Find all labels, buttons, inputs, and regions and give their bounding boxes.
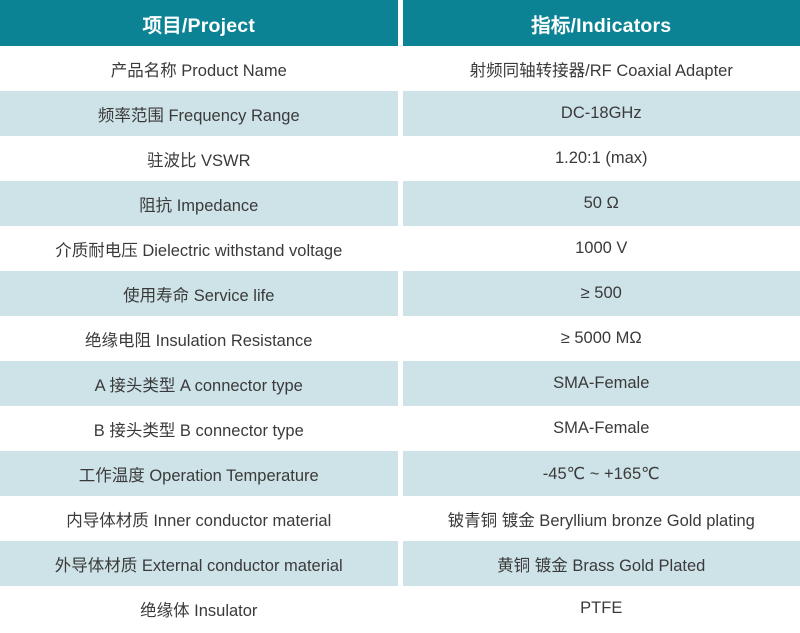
column-header-project: 项目/Project — [0, 0, 400, 46]
table-row: B 接头类型 B connector typeSMA-Female — [0, 406, 800, 451]
cell-project: 产品名称 Product Name — [0, 46, 400, 91]
table-header-row: 项目/Project 指标/Indicators — [0, 0, 800, 46]
column-header-indicators: 指标/Indicators — [400, 0, 800, 46]
table-row: 介质耐电压 Dielectric withstand voltage1000 V — [0, 226, 800, 271]
cell-indicator: -45℃ ~ +165℃ — [400, 451, 800, 496]
cell-project: 阻抗 Impedance — [0, 181, 400, 226]
cell-project: 内导体材质 Inner conductor material — [0, 496, 400, 541]
cell-project: B 接头类型 B connector type — [0, 406, 400, 451]
table-row: 工作温度 Operation Temperature-45℃ ~ +165℃ — [0, 451, 800, 496]
cell-project: A 接头类型 A connector type — [0, 361, 400, 406]
cell-indicator: DC-18GHz — [400, 91, 800, 136]
table-row: 阻抗 Impedance50 Ω — [0, 181, 800, 226]
cell-project: 使用寿命 Service life — [0, 271, 400, 316]
table-row: 绝缘体 InsulatorPTFE — [0, 586, 800, 631]
cell-indicator: 50 Ω — [400, 181, 800, 226]
cell-project: 绝缘体 Insulator — [0, 586, 400, 631]
cell-project: 工作温度 Operation Temperature — [0, 451, 400, 496]
cell-indicator: PTFE — [400, 586, 800, 631]
table-row: A 接头类型 A connector typeSMA-Female — [0, 361, 800, 406]
cell-indicator: ≥ 5000 MΩ — [400, 316, 800, 361]
table-row: 驻波比 VSWR1.20:1 (max) — [0, 136, 800, 181]
cell-indicator: ≥ 500 — [400, 271, 800, 316]
table-row: 内导体材质 Inner conductor material铍青铜 镀金 Ber… — [0, 496, 800, 541]
cell-indicator: 1.20:1 (max) — [400, 136, 800, 181]
cell-indicator: SMA-Female — [400, 406, 800, 451]
cell-project: 频率范围 Frequency Range — [0, 91, 400, 136]
cell-project: 外导体材质 External conductor material — [0, 541, 400, 586]
table-row: 外导体材质 External conductor material黄铜 镀金 B… — [0, 541, 800, 586]
table-header: 项目/Project 指标/Indicators — [0, 0, 800, 46]
cell-indicator: 1000 V — [400, 226, 800, 271]
cell-project: 驻波比 VSWR — [0, 136, 400, 181]
cell-indicator: SMA-Female — [400, 361, 800, 406]
specification-table: 项目/Project 指标/Indicators 产品名称 Product Na… — [0, 0, 800, 631]
table-row: 绝缘电阻 Insulation Resistance≥ 5000 MΩ — [0, 316, 800, 361]
table-row: 频率范围 Frequency RangeDC-18GHz — [0, 91, 800, 136]
cell-project: 绝缘电阻 Insulation Resistance — [0, 316, 400, 361]
cell-indicator: 铍青铜 镀金 Beryllium bronze Gold plating — [400, 496, 800, 541]
table-row: 产品名称 Product Name射频同轴转接器/RF Coaxial Adap… — [0, 46, 800, 91]
table-body: 产品名称 Product Name射频同轴转接器/RF Coaxial Adap… — [0, 46, 800, 631]
cell-indicator: 黄铜 镀金 Brass Gold Plated — [400, 541, 800, 586]
cell-indicator: 射频同轴转接器/RF Coaxial Adapter — [400, 46, 800, 91]
cell-project: 介质耐电压 Dielectric withstand voltage — [0, 226, 400, 271]
table-row: 使用寿命 Service life≥ 500 — [0, 271, 800, 316]
